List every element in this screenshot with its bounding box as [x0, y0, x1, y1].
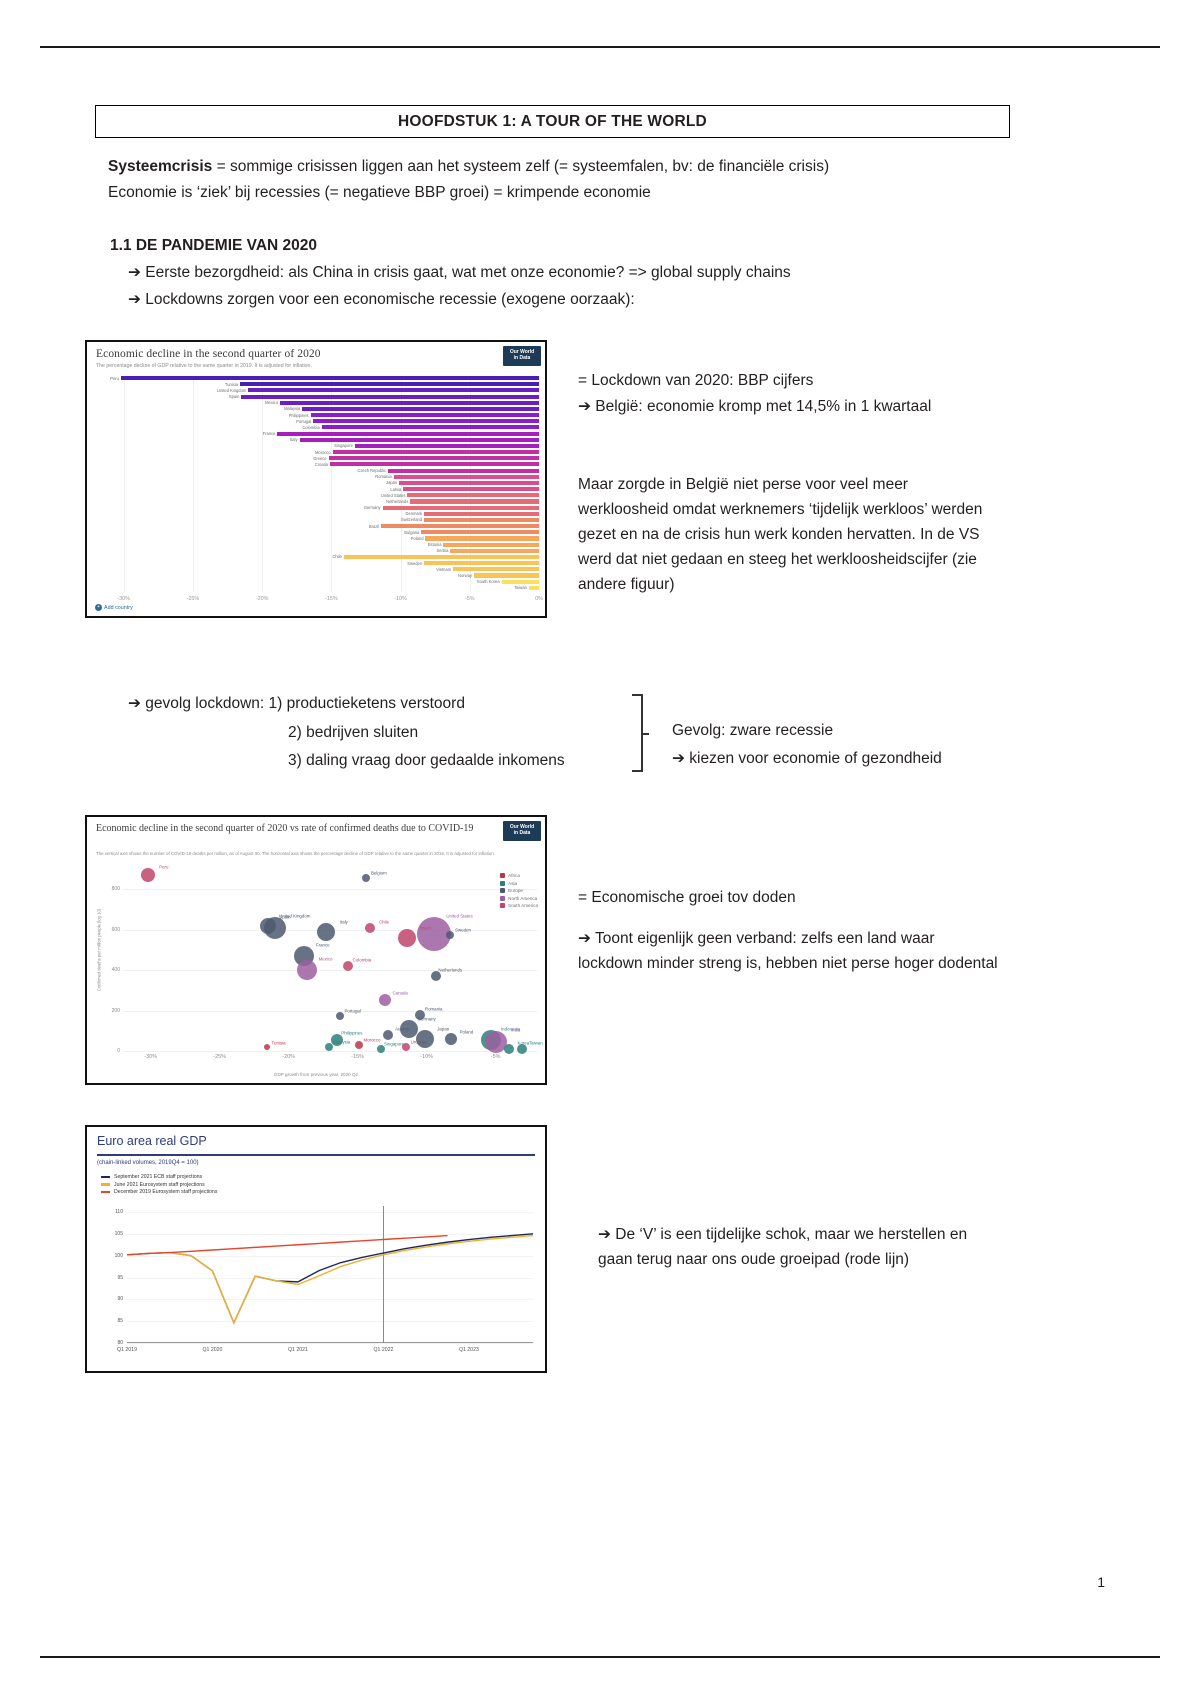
chart1-x-tick: 0% — [535, 596, 543, 602]
consequence-item-3: 3) daling vraag door gedaalde inkomens — [288, 749, 565, 774]
chart2-gridline — [123, 889, 537, 890]
note2-line-1: = Economische groei tov doden — [578, 885, 998, 910]
page-number: 1 — [1097, 1574, 1105, 1590]
chart1-bar-row — [96, 432, 539, 436]
chart3-x-tick: Q1 2019 — [117, 1347, 137, 1353]
chart1-bar — [322, 425, 539, 429]
chart1-bar-row — [96, 395, 539, 399]
chart1-bar — [240, 382, 539, 386]
chart1-bar — [502, 580, 539, 584]
chart2-subtitle: The vertical axis shows the number of CO… — [96, 851, 521, 857]
chart1-bar-row — [96, 462, 539, 466]
chart2-data-point[interactable] — [260, 918, 276, 934]
chart2-y-tick: 0 — [117, 1048, 120, 1054]
chart2-point-label: India — [511, 1027, 521, 1032]
chart1-x-axis: -30%-25%-20%-15%-10%-5%0% — [96, 596, 539, 608]
chart1-bar-row — [96, 555, 539, 559]
chart2-legend: AfricaAsiaEuropeNorth AmericaSouth Ameri… — [500, 873, 538, 911]
chart2-x-axis-title: GDP growth from previous year, 2020 Q2 — [274, 1072, 358, 1077]
chart1-bar — [383, 506, 539, 510]
chart1-bar-row — [96, 530, 539, 534]
chart2-data-point[interactable] — [141, 868, 155, 882]
chart1-bar-row — [96, 573, 539, 577]
consequence-item-2: 2) bedrijven sluiten — [288, 721, 418, 746]
chart2-data-point[interactable] — [504, 1044, 514, 1054]
chart1-x-tick: -20% — [256, 596, 269, 602]
chart3-legend-label: December 2019 Eurosystem staff projectio… — [114, 1189, 217, 1195]
chart1-bar-row — [96, 567, 539, 571]
chart1-gridline — [539, 376, 540, 592]
chart3-legend-swatch — [101, 1183, 110, 1185]
chart3-y-tick: 85 — [117, 1318, 123, 1324]
chart2-point-label: Morocco — [364, 1037, 381, 1042]
chart3-lines — [127, 1212, 533, 1343]
chart2-legend-label: North America — [508, 896, 537, 901]
chart2-point-label: Chile — [379, 919, 389, 924]
chart1-bar — [424, 512, 539, 516]
add-country-label: Add country — [104, 605, 133, 611]
chart3-x-tick: Q1 2020 — [203, 1347, 223, 1353]
chart1-bar — [302, 407, 539, 411]
chart2-point-label: Peru — [159, 865, 168, 870]
chart2-data-point[interactable] — [317, 923, 335, 941]
chart1-bar-row — [96, 425, 539, 429]
chart1-bar — [450, 549, 539, 553]
page-title-text: HOOFDSTUK 1: A TOUR OF THE WORLD — [398, 113, 707, 131]
chart-decline-vs-deaths-scatter: Our Worldin Data Economic decline in the… — [85, 815, 547, 1085]
section-bullet-1: ➔ Eerste bezorgdheid: als China in crisi… — [128, 261, 791, 286]
chart2-x-tick: -5% — [491, 1054, 501, 1060]
chart3-legend-label: September 2021 ECB staff projections — [114, 1174, 202, 1180]
chart2-point-label: Romania — [425, 1006, 443, 1011]
page-top-rule — [40, 46, 1160, 48]
chart1-bar-row — [96, 561, 539, 565]
chart2-legend-item[interactable]: North America — [500, 896, 538, 901]
chart-economic-decline-bars: Our Worldin Data Economic decline in the… — [85, 340, 547, 618]
chart1-bar-row — [96, 493, 539, 497]
chart1-bar — [421, 530, 539, 534]
chart2-data-point[interactable] — [325, 1043, 333, 1051]
chart2-point-label: Malaysia — [333, 1040, 350, 1045]
chart1-bar-row — [96, 407, 539, 411]
chart2-legend-label: South America — [508, 903, 538, 908]
chart1-bar — [241, 395, 539, 399]
chart2-x-tick: -10% — [420, 1054, 433, 1060]
chart1-bar-row — [96, 536, 539, 540]
chart2-data-point[interactable] — [355, 1041, 363, 1049]
chart2-point-label: Singapore — [384, 1041, 404, 1046]
chart3-plot-area: 80859095100105110Q1 2019Q1 2020Q1 2021Q1… — [127, 1212, 533, 1343]
chart2-gridline — [123, 970, 537, 971]
chart1-bar-row — [96, 456, 539, 460]
chart1-bar — [394, 475, 539, 479]
chart3-legend-swatch — [101, 1176, 110, 1178]
chart1-bar-row — [96, 388, 539, 392]
chart3-y-tick: 110 — [115, 1209, 123, 1215]
chart2-y-axis-title: Confirmed deaths per million people (log… — [97, 909, 102, 991]
chart1-bar — [121, 376, 539, 380]
chart2-data-point[interactable] — [446, 931, 454, 939]
chart2-legend-swatch — [500, 896, 505, 901]
chart1-bar — [443, 543, 539, 547]
chart2-point-label: Sweden — [455, 927, 471, 932]
chart2-point-label: Austria — [395, 1026, 409, 1031]
chart1-subtitle: The percentage decline of GDP relative t… — [96, 363, 426, 369]
chart2-x-tick: -30% — [144, 1054, 157, 1060]
chart2-gridline — [123, 1011, 537, 1012]
chart1-bar-row — [96, 469, 539, 473]
chart3-legend: September 2021 ECB staff projectionsJune… — [101, 1174, 217, 1197]
chart2-point-label: Korea — [518, 1040, 530, 1045]
chart2-data-point[interactable] — [383, 1030, 393, 1040]
chart1-bar-row — [96, 481, 539, 485]
chart2-legend-label: Europe — [508, 888, 523, 893]
chart2-legend-item[interactable]: Africa — [500, 873, 538, 878]
chart1-bar-row — [96, 586, 539, 590]
chart3-title-rule — [97, 1154, 535, 1156]
chart2-point-label: France — [316, 942, 330, 947]
chart1-bar — [453, 567, 539, 571]
chart2-data-point[interactable] — [365, 923, 375, 933]
add-country-button[interactable]: +Add country — [95, 604, 133, 611]
chart2-x-tick: -15% — [351, 1054, 364, 1060]
chart2-point-label: Brazil — [420, 925, 431, 930]
chart1-bar — [474, 573, 539, 577]
chart1-bar-row — [96, 524, 539, 528]
chart1-bar-row — [96, 438, 539, 442]
chart1-bar-row — [96, 376, 539, 380]
grouping-bracket — [632, 694, 650, 772]
chart2-data-point[interactable] — [343, 961, 353, 971]
chart2-y-tick: 200 — [112, 1008, 120, 1014]
chart1-x-tick: -30% — [117, 596, 130, 602]
chart3-x-tick: Q1 2022 — [373, 1347, 393, 1353]
chart1-bar — [344, 555, 539, 559]
chart2-x-tick: -20% — [282, 1054, 295, 1060]
chart1-x-tick: -15% — [325, 596, 338, 602]
note3-paragraph: ➔ De ‘V’ is een tijdelijke schok, maar w… — [598, 1222, 998, 1272]
chart2-legend-item[interactable]: Europe — [500, 888, 538, 893]
chart2-legend-label: Africa — [508, 873, 520, 878]
chart1-bar-row — [96, 499, 539, 503]
chart3-title: Euro area real GDP — [97, 1134, 207, 1148]
owid-logo-badge: Our Worldin Data — [503, 346, 541, 366]
chart3-y-tick: 100 — [115, 1253, 123, 1259]
chart2-data-point[interactable] — [398, 929, 416, 947]
chart3-legend-item[interactable]: December 2019 Eurosystem staff projectio… — [101, 1189, 217, 1195]
chart2-point-label: Canada — [392, 991, 407, 996]
page-title: HOOFDSTUK 1: A TOUR OF THE WORLD — [95, 105, 1010, 138]
chart1-x-tick: -25% — [187, 596, 200, 602]
chart1-bar — [280, 401, 539, 405]
chart2-gridline — [123, 1051, 537, 1052]
consequence-result-1: Gevolg: zware recessie — [672, 719, 833, 744]
chart3-legend-item[interactable]: September 2021 ECB staff projections — [101, 1174, 217, 1180]
chart2-point-label: Tunisia — [272, 1040, 286, 1045]
intro-line-1: Systeemcrisis = sommige crisissen liggen… — [108, 155, 988, 179]
note1-line-2: ➔ België: economie kromp met 14,5% in 1 … — [578, 394, 978, 419]
chart2-title: Economic decline in the second quarter o… — [96, 823, 486, 836]
chart1-x-tick: -10% — [394, 596, 407, 602]
chart2-legend-item[interactable]: South America — [500, 903, 538, 908]
plus-icon: + — [95, 604, 102, 611]
owid-logo-badge-2: Our Worldin Data — [503, 821, 541, 841]
intro-line-2: Economie is ‘ziek’ bij recessies (= nega… — [108, 181, 988, 205]
chart1-bar — [333, 450, 539, 454]
chart2-point-label: Italy — [340, 919, 348, 924]
chart1-bar — [277, 432, 539, 436]
chart1-bar-row — [96, 413, 539, 417]
chart2-point-label: Netherlands — [438, 968, 462, 973]
chart2-data-point[interactable] — [379, 994, 391, 1006]
intro-term: Systeemcrisis — [108, 158, 212, 175]
chart1-bar — [403, 487, 539, 491]
chart1-bar — [248, 388, 539, 392]
chart1-bar — [329, 456, 539, 460]
chart1-bar — [381, 524, 539, 528]
chart2-point-label: United States — [446, 913, 472, 918]
chart2-y-tick: 800 — [112, 886, 120, 892]
chart1-bar — [313, 419, 539, 423]
chart1-bar-row — [96, 549, 539, 553]
chart1-bar-row — [96, 580, 539, 584]
chart3-series-line — [127, 1236, 533, 1323]
chart2-point-label: Taiwan — [529, 1040, 543, 1045]
chart1-bar — [388, 469, 539, 473]
chart1-plot-area: PeruTunisiaUnited KingdomSpainMexicoMala… — [96, 376, 539, 592]
note1-paragraph: Maar zorgde in België niet perse voor ve… — [578, 472, 998, 598]
chart1-bar — [424, 561, 539, 565]
chart1-bar — [424, 518, 539, 522]
chart1-bar-row — [96, 506, 539, 510]
chart3-legend-item[interactable]: June 2021 Eurosystem staff projections — [101, 1182, 217, 1188]
chart2-y-tick: 400 — [112, 967, 120, 973]
chart1-bar — [425, 536, 539, 540]
chart1-bar-row — [96, 512, 539, 516]
chart2-legend-item[interactable]: Asia — [500, 881, 538, 886]
chart1-bar — [355, 444, 539, 448]
chart2-x-tick: -25% — [213, 1054, 226, 1060]
chart2-legend-label: Asia — [508, 881, 517, 886]
section-bullet-2: ➔ Lockdowns zorgen voor een economische … — [128, 288, 635, 313]
chart3-y-tick: 80 — [117, 1340, 123, 1346]
chart3-x-tick: Q1 2023 — [459, 1347, 479, 1353]
chart1-bar-row — [96, 475, 539, 479]
chart2-legend-swatch — [500, 903, 505, 908]
note1-line-1: = Lockdown van 2020: BBP cijfers — [578, 368, 998, 393]
chart3-y-tick: 105 — [115, 1231, 123, 1237]
chart1-bar — [399, 481, 539, 485]
chart2-data-point[interactable] — [431, 971, 441, 981]
page-bottom-rule — [40, 1656, 1160, 1658]
chart1-bar-row — [96, 518, 539, 522]
chart2-point-label: Spain — [279, 914, 290, 919]
chart3-legend-label: June 2021 Eurosystem staff projections — [114, 1182, 205, 1188]
chart1-x-tick: -5% — [465, 596, 475, 602]
chart2-data-point[interactable] — [485, 1031, 507, 1053]
chart2-point-label: Philippines — [341, 1030, 362, 1035]
section-heading: 1.1 DE PANDEMIE VAN 2020 — [110, 237, 317, 255]
chart1-bar-row — [96, 444, 539, 448]
chart2-data-point[interactable] — [264, 1044, 270, 1050]
chart2-point-label: Poland — [460, 1029, 474, 1034]
chart1-bar-row — [96, 543, 539, 547]
chart1-bar — [311, 413, 539, 417]
chart3-gridline — [127, 1343, 533, 1344]
chart2-data-point[interactable] — [297, 960, 317, 980]
chart1-bar — [407, 493, 539, 497]
chart2-data-point[interactable] — [336, 1012, 344, 1020]
chart3-y-tick: 95 — [117, 1275, 123, 1281]
intro-definition: = sommige crisissen liggen aan het syste… — [212, 158, 829, 175]
chart2-point-label: Belgium — [371, 871, 387, 876]
chart3-subtitle: (chain-linked volumes, 2019Q4 = 100) — [97, 1160, 199, 1166]
chart-euro-area-real-gdp: Euro area real GDP (chain-linked volumes… — [85, 1125, 547, 1373]
chart2-point-label: Japan — [437, 1026, 449, 1031]
chart2-point-label: Mexico — [319, 957, 333, 962]
chart2-legend-swatch — [500, 873, 505, 878]
chart2-data-point[interactable] — [362, 874, 370, 882]
chart3-legend-swatch — [101, 1191, 110, 1193]
chart3-y-tick: 90 — [117, 1296, 123, 1302]
chart1-bar-row — [96, 487, 539, 491]
note2-paragraph: ➔ Toont eigenlijk geen verband: zelfs ee… — [578, 926, 1003, 976]
chart2-point-label: Colombia — [353, 958, 372, 963]
chart2-legend-swatch — [500, 888, 505, 893]
chart2-point-label: Germany — [418, 1016, 436, 1021]
chart2-point-label: Portugal — [344, 1008, 360, 1013]
chart3-x-tick: Q1 2021 — [288, 1347, 308, 1353]
chart2-data-point[interactable] — [416, 1030, 434, 1048]
chart1-bar — [529, 586, 539, 590]
chart3-series-line — [127, 1234, 533, 1323]
chart2-legend-swatch — [500, 881, 505, 886]
chart1-title: Economic decline in the second quarter o… — [96, 348, 321, 360]
chart1-bar-row — [96, 401, 539, 405]
chart2-data-point[interactable] — [445, 1033, 457, 1045]
chart1-bar-row — [96, 450, 539, 454]
consequence-result-2: ➔ kiezen voor economie of gezondheid — [672, 747, 942, 772]
chart1-bar-row — [96, 382, 539, 386]
chart2-y-tick: 600 — [112, 927, 120, 933]
chart1-bar-row — [96, 419, 539, 423]
consequence-lead: ➔ gevolg lockdown: 1) productieketens ve… — [128, 692, 465, 717]
chart1-bar — [410, 499, 539, 503]
chart1-bar — [330, 462, 539, 466]
chart2-plot-area: 0200400600800-30%-25%-20%-15%-10%-5%Peru… — [123, 869, 537, 1051]
chart1-bar — [300, 438, 539, 442]
